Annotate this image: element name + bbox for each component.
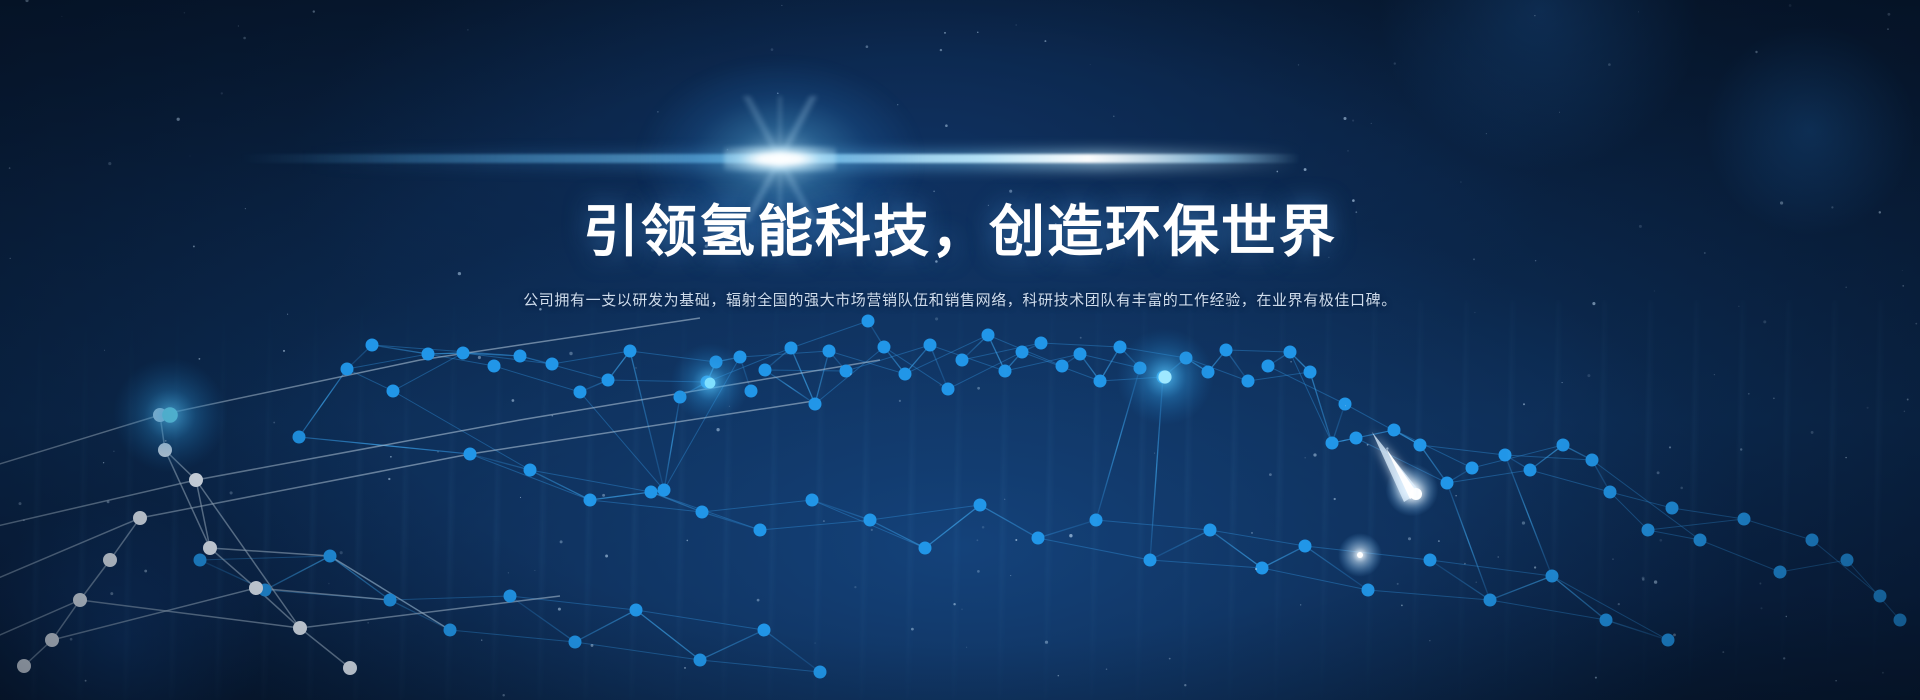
background-vignette — [0, 0, 1920, 700]
hero-banner: 引领氢能科技，创造环保世界 公司拥有一支以研发为基础，辐射全国的强大市场营销队伍… — [0, 0, 1920, 700]
